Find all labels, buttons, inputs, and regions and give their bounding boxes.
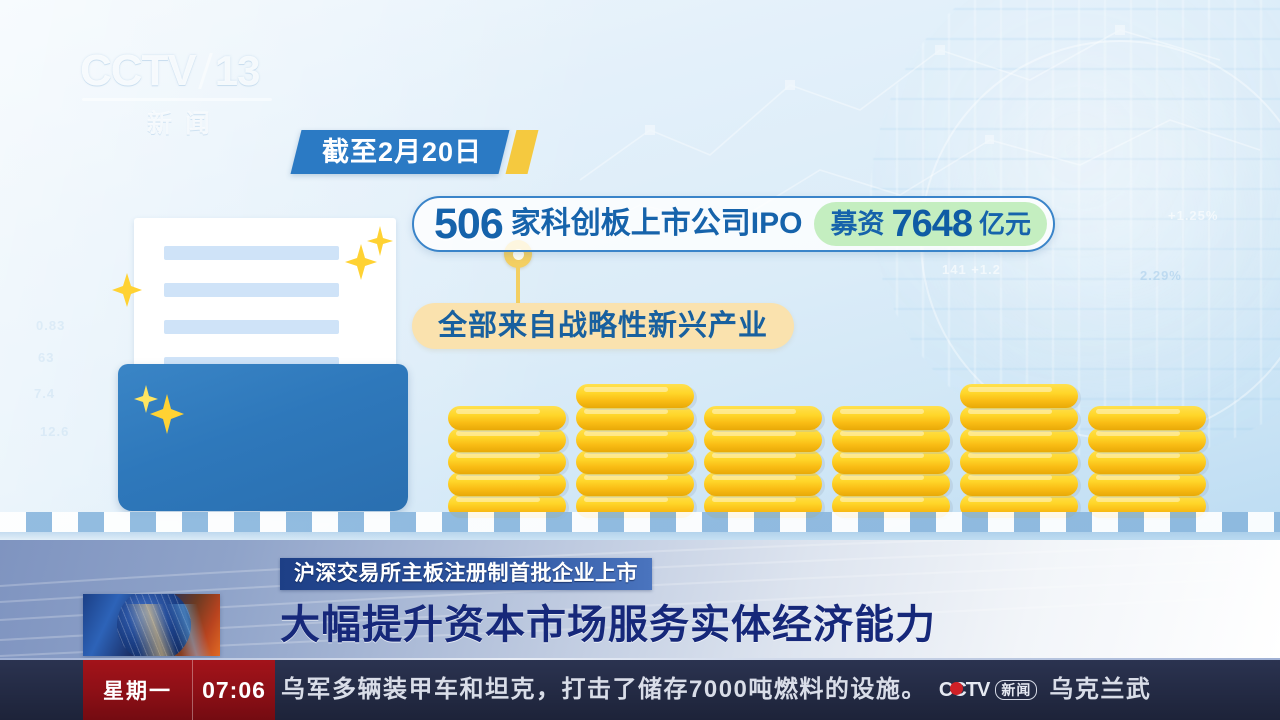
channel-logo-number: 13 [215,46,260,96]
ticker-weekday-label: 星期一 [103,675,172,705]
floor-strip [0,512,1280,532]
sub-caption-label: 全部来自战略性新兴产业 [438,303,768,349]
coin [704,472,822,496]
coin-stack-chart [448,360,1228,518]
coin [960,450,1078,474]
coin-stack [448,408,566,518]
coin [1088,472,1206,496]
coin [576,428,694,452]
coin-stack [960,386,1078,518]
ghost-number: 141 +1.2 [942,262,1001,277]
kicker-bar: 沪深交易所主板注册制首批企业上市 [280,558,652,590]
coin-stack [832,408,950,518]
document-paper [134,218,396,380]
coin [448,472,566,496]
channel-logo-wordmark: CCTV 13 [80,46,280,96]
coin [704,428,822,452]
coin [832,428,950,452]
ticker-cctv-wordmark: CCTV [939,679,989,702]
coin [576,384,694,408]
document-folder [118,364,408,511]
coin [832,450,950,474]
ghost-number: 7.4 [34,386,55,401]
coin-stack [704,408,822,518]
coin [576,406,694,430]
coin [960,406,1078,430]
ticker-weekday: 星期一 [83,660,193,720]
coin [832,472,950,496]
headline-highlight-pill: 募资 7648 亿元 [814,202,1047,246]
coin [704,406,822,430]
ghost-number: 2.29% [1140,268,1182,283]
channel-logo-cn-text: 新闻 [80,104,280,140]
coin [448,428,566,452]
coin [960,384,1078,408]
main-title-label: 大幅提升资本市场服务实体经济能力 [280,596,936,654]
document-text-line [164,283,339,297]
globe-thumbnail [83,594,220,656]
coin [576,450,694,474]
channel-logo: CCTV 13 新闻 [80,46,280,138]
kicker-label: 沪深交易所主板注册制首批企业上市 [294,558,638,590]
ticker-clock: 07:06 [193,660,275,720]
headline-capsule: 506 家科创板上市公司IPO 募资 7648 亿元 [412,196,1055,252]
coin [960,428,1078,452]
ghost-number: +1.25% [1168,208,1218,223]
headline-highlight-label: 募资 [830,202,884,246]
coin [576,472,694,496]
coin [1088,450,1206,474]
channel-logo-underline [82,98,272,101]
document-text-line [164,246,339,260]
ticker-scroll-area: 乌军多辆装甲车和坦克，打击了储存7000吨燃料的设施。 CCTV 新闻 乌克兰武 [275,660,1280,720]
channel-logo-cctv-text: CCTV [80,46,196,96]
ticker-clock-label: 07:06 [202,677,266,704]
date-badge-label: 截至2月20日 [322,130,482,174]
globe-swoosh [83,604,220,656]
ghost-number: 63 [38,350,54,365]
ticker-cctv-logo: CCTV 新闻 [939,679,1037,702]
ticker-left-gap [0,660,83,720]
broadcast-screen: 141 +1.2 +1.25% 2.29% 0.83 63 7.4 12.6 C… [0,0,1280,720]
date-badge-body: 截至2月20日 [291,130,510,174]
document-folder-illustration [118,218,408,518]
headline-number: 506 [434,196,503,252]
ticker-tail: 乌克兰武 [1049,660,1155,720]
coin [1088,406,1206,430]
headline-highlight-unit: 亿元 [979,202,1031,246]
coin [448,406,566,430]
coin [960,472,1078,496]
headline-text: 家科创板上市公司IPO [511,196,803,252]
document-text-line [164,320,339,334]
coin [704,450,822,474]
ticker-tail-text: 乌克兰武 [1049,676,1151,703]
coin [832,406,950,430]
news-ticker: 星期一 07:06 乌军多辆装甲车和坦克，打击了储存7000吨燃料的设施。 CC… [0,660,1280,720]
ticker-cctv-red-dot [950,682,963,695]
coin [448,450,566,474]
ghost-number: 0.83 [36,318,65,333]
ticker-scroll-text: 乌军多辆装甲车和坦克，打击了储存7000吨燃料的设施。 [281,660,927,720]
ticker-cctv-cn: 新闻 [995,680,1037,700]
date-badge: 截至2月20日 [296,130,533,174]
headline-highlight-number: 7648 [891,202,972,246]
coin-stack [576,386,694,518]
sub-caption-pill: 全部来自战略性新兴产业 [412,303,794,349]
ghost-number: 12.6 [40,424,69,439]
channel-logo-slash [198,53,213,89]
coin-stack [1088,408,1206,518]
coin [1088,428,1206,452]
main-title: 大幅提升资本市场服务实体经济能力 [280,596,936,654]
